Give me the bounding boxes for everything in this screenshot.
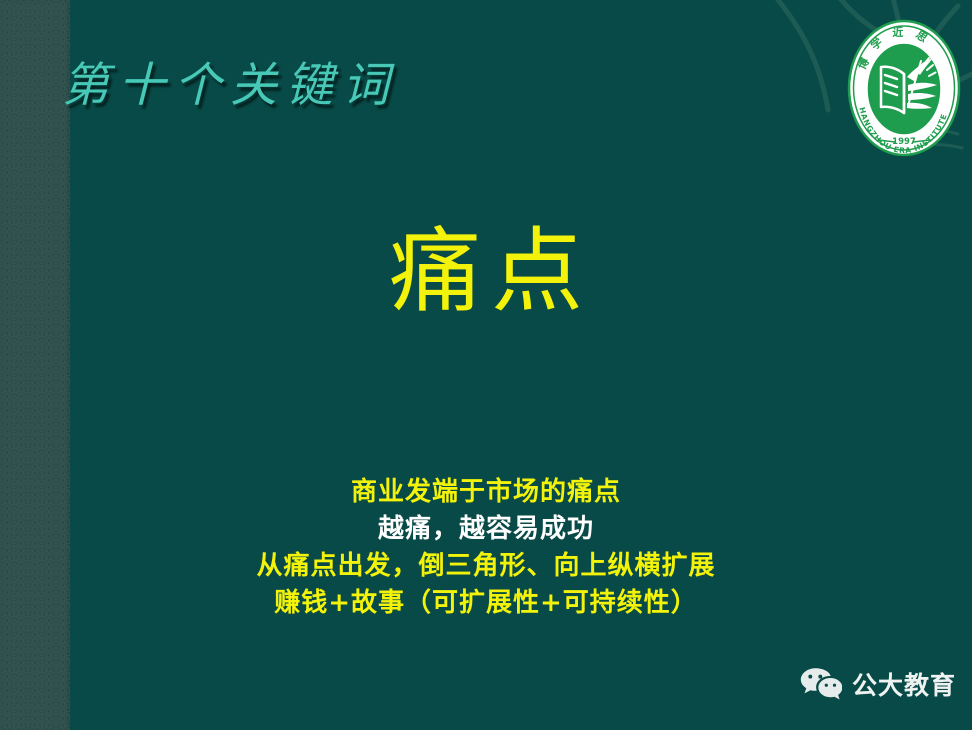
body-line: 商业发端于市场的痛点 [0, 474, 972, 511]
slide-heading: 第十个关键词 [62, 62, 398, 109]
body-line: 赚钱+故事（可扩展性+可持续性） [0, 585, 972, 622]
wechat-watermark-label: 公大教育 [852, 666, 956, 702]
body-line: 从痛点出发，倒三角形、向上纵横扩展 [0, 548, 972, 585]
wechat-watermark: 公大教育 [800, 666, 956, 702]
presentation-slide: 博学近思 HANGZHOU ERA INSTITUTE 1997 第十个关键词 … [0, 0, 972, 730]
body-text-block: 商业发端于市场的痛点 越痛，越容易成功 从痛点出发，倒三角形、向上纵横扩展 赚钱… [0, 474, 972, 622]
hangzhou-era-institute-logo: 博学近思 HANGZHOU ERA INSTITUTE 1997 [845, 18, 963, 158]
keyword-title: 痛点 [0, 226, 972, 318]
logo-year: 1997 [892, 137, 916, 147]
wechat-icon [800, 667, 842, 701]
body-line: 越痛，越容易成功 [0, 511, 972, 548]
